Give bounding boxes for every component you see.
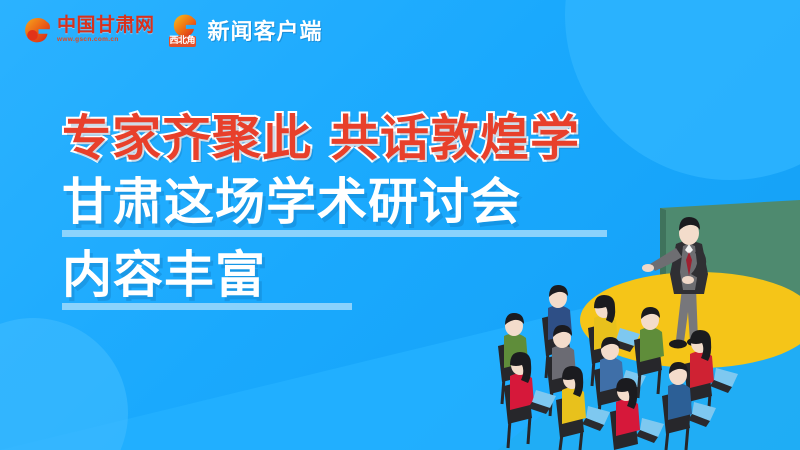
gansu-brand-name: 中国甘肃网 <box>57 16 155 35</box>
xibeijiao-badge-label: 西北角 <box>169 36 197 47</box>
logo-gansu-net[interactable]: 中国甘肃网 www.gscn.com.cn <box>22 15 155 45</box>
headline-underline-3 <box>62 303 352 310</box>
headline-line-1: 专家齐聚此 共话敦煌学 <box>62 108 682 170</box>
logo-bar: 中国甘肃网 www.gscn.com.cn 西北角 <box>22 10 323 50</box>
news-client-label: 新闻客户端 <box>208 14 323 46</box>
academic-seminar-isometric-illustration <box>470 200 800 450</box>
gansu-logo-text: 中国甘肃网 www.gscn.com.cn <box>57 16 155 44</box>
logo-news-client[interactable]: 西北角 新闻客户端 <box>169 14 323 46</box>
gansu-swoosh-logo-icon <box>22 15 52 45</box>
gansu-brand-url: www.gscn.com.cn <box>57 37 155 44</box>
xibeijiao-swoosh-logo-icon: 西北角 <box>169 14 203 46</box>
poster-root: 中国甘肃网 www.gscn.com.cn 西北角 <box>0 0 800 450</box>
